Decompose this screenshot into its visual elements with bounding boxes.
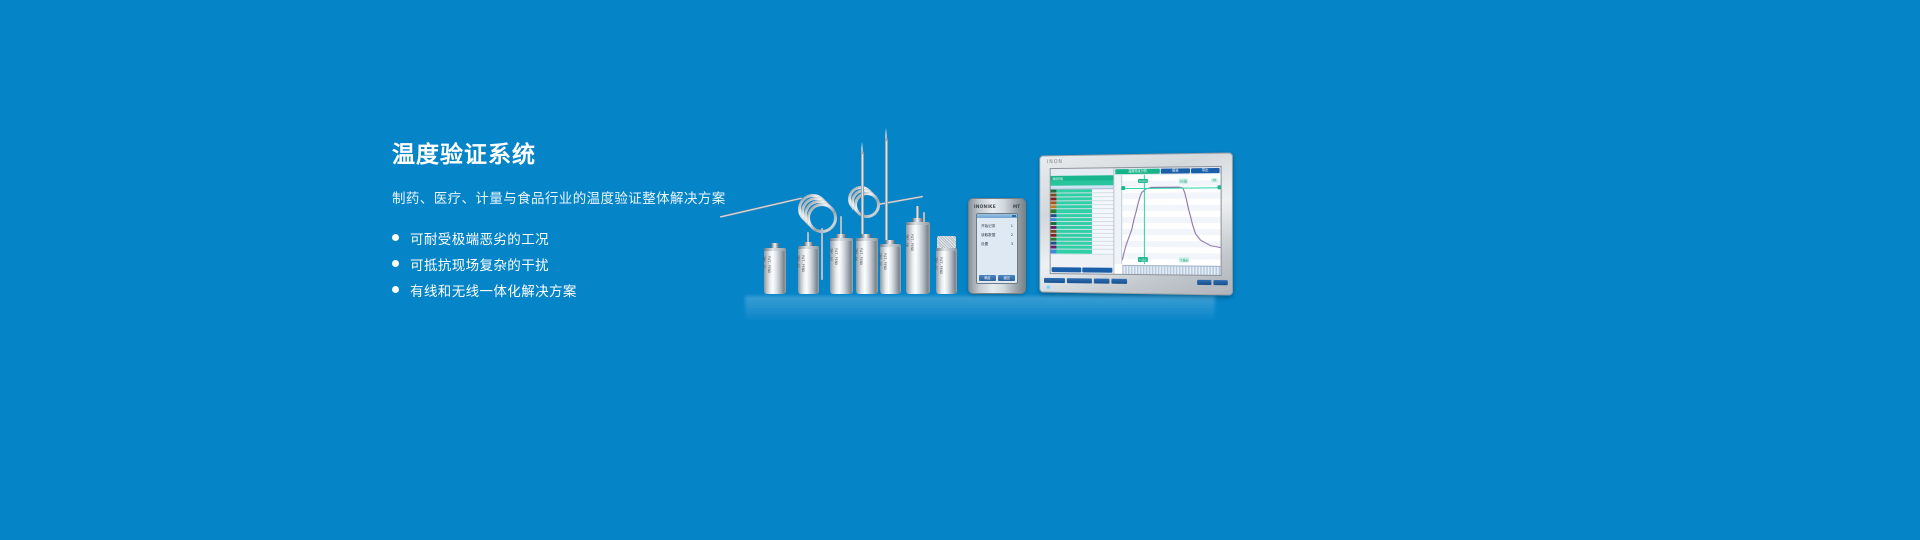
table-row[interactable]	[1051, 250, 1114, 254]
chart-flag-bottom: T 起点	[1138, 257, 1149, 262]
chart-handle-right[interactable]	[1218, 186, 1222, 190]
chart-flag-far-right: F0	[1211, 178, 1217, 182]
workstation-monitor[interactable]: INON 温度验证分析 报告 导出 通道列表	[1039, 152, 1233, 295]
list-item[interactable]: 读取数据 2	[981, 233, 1013, 238]
bullet-dot-icon	[392, 234, 399, 241]
power-led-icon	[1047, 286, 1050, 289]
exit-button[interactable]	[1213, 280, 1227, 286]
handheld-ok-button[interactable]: 确定	[979, 275, 996, 281]
menu-label: 读取数据	[981, 233, 995, 238]
handheld-menu: 开始记录 1 读取数据 2 设置 3	[977, 218, 1017, 247]
feature-label: 有线和无线一体化解决方案	[410, 280, 577, 300]
chart-flag-right-top: F0 值	[1179, 178, 1189, 183]
bullet-dot-icon	[392, 260, 399, 267]
clear-button[interactable]	[1082, 267, 1112, 272]
analyze-button[interactable]	[1094, 278, 1110, 284]
channel-panel-title: 通道列表	[1053, 176, 1064, 180]
bullet-dot-icon	[392, 286, 399, 293]
menu-label: 开始记录	[981, 224, 995, 229]
tab-analysis[interactable]: 温度验证分析	[1115, 169, 1160, 175]
software-toolbar	[1040, 276, 1232, 287]
settings-button[interactable]	[1067, 278, 1092, 284]
handheld-brand-row: INONIKE MT	[974, 204, 1020, 209]
select-all-button[interactable]	[1052, 267, 1082, 272]
help-button[interactable]	[1197, 280, 1211, 286]
software-body: 通道列表	[1051, 174, 1221, 275]
handheld-titlebar	[977, 214, 1017, 218]
feature-label: 可耐受极端恶劣的工况	[410, 228, 549, 248]
menu-label: 设置	[981, 242, 988, 247]
needle-probe-taller	[884, 128, 888, 254]
handheld-screen[interactable]: 开始记录 1 读取数据 2 设置 3 确定 返回	[976, 213, 1018, 284]
handheld-brand-label: INONIKE	[974, 204, 996, 209]
chart-handle-left[interactable]	[1121, 186, 1125, 190]
tab-report[interactable]: 报告	[1161, 168, 1190, 173]
channel-table	[1051, 189, 1114, 254]
list-item[interactable]: 设置 3	[981, 242, 1013, 247]
channel-panel: 通道列表	[1051, 175, 1115, 274]
temperature-chart[interactable]: 0 min T 起点 F0 值 T 终点 F0	[1114, 174, 1220, 275]
chart-flag-right-bottom: T 终点	[1179, 257, 1190, 262]
chart-plot-area[interactable]: 0 min T 起点 F0 值 T 终点 F0	[1122, 174, 1220, 265]
chart-flag-top: 0 min	[1138, 179, 1148, 183]
tab-export[interactable]: 导出	[1191, 168, 1220, 173]
feature-label: 可抵抗现场复杂的干扰	[410, 254, 549, 274]
monitor-brand-label: INON	[1047, 159, 1063, 165]
menu-index: 1	[1011, 224, 1013, 229]
list-item[interactable]: 开始记录 1	[981, 224, 1013, 229]
handheld-back-button[interactable]: 返回	[998, 275, 1015, 281]
menu-index: 2	[1011, 233, 1013, 238]
hero-banner: 温度验证系统 制药、医疗、计量与食品行业的温度验证整体解决方案 可耐受极端恶劣的…	[0, 0, 1920, 540]
product-photo: PAT.PENDTMP-01 PAT.PENDTMP-02 PAT.PENDTM…	[700, 120, 1260, 320]
menu-index: 3	[1011, 242, 1013, 247]
handheld-softkeys: 确定 返回	[979, 275, 1015, 281]
handheld-model-label: MT	[1013, 204, 1020, 209]
chart-time-cursor[interactable]	[1143, 175, 1144, 264]
open-file-button[interactable]	[1044, 278, 1065, 284]
channel-panel-footer	[1051, 266, 1114, 274]
handheld-reader[interactable]: INONIKE MT 开始记录 1 读取数据 2 设置 3	[968, 198, 1026, 294]
monitor-screen[interactable]: 温度验证分析 报告 导出 通道列表	[1050, 166, 1222, 276]
chart-horizontal-scrollbar[interactable]	[1122, 265, 1220, 275]
coiled-wire-probe-short	[830, 186, 960, 236]
print-button[interactable]	[1111, 278, 1127, 284]
